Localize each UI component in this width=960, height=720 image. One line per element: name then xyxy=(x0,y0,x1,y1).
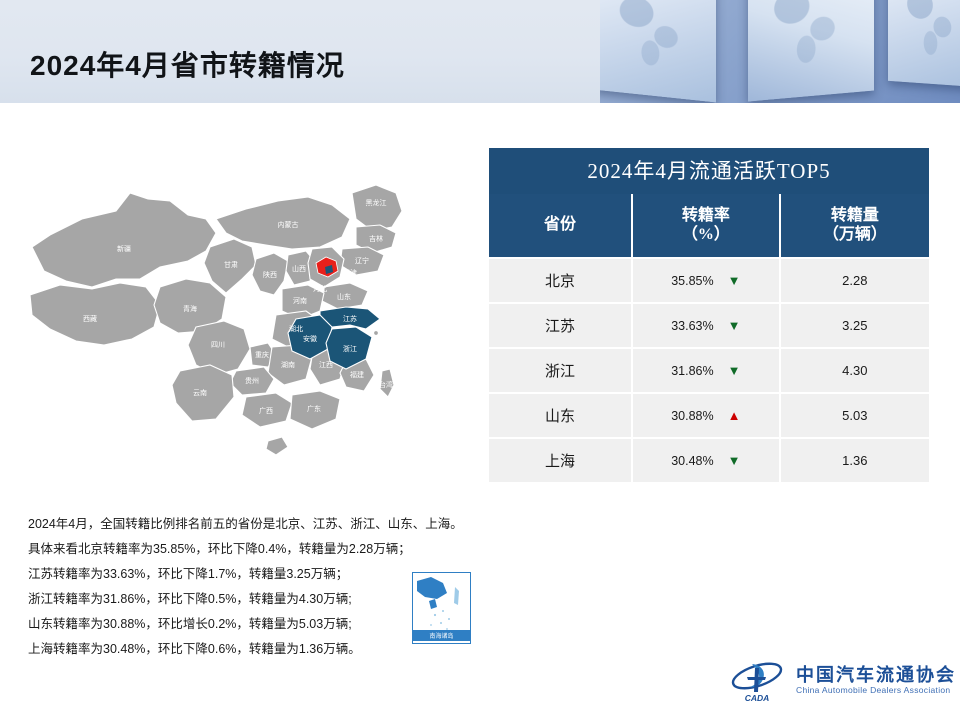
map-label-sichuan: 四川 xyxy=(211,341,225,349)
cell-province: 上海 xyxy=(489,437,631,482)
map-label-tianjin: 天津 xyxy=(343,269,357,277)
column-header-province-line1: 省份 xyxy=(490,216,630,234)
world-map-texture-icon xyxy=(763,0,859,73)
map-label-guizhou: 贵州 xyxy=(245,376,259,385)
column-header-volume: 转籍量 （万辆） xyxy=(779,194,929,257)
trend-up-icon: ▲ xyxy=(728,409,741,422)
cell-rate: 35.85% ▼ xyxy=(631,257,779,302)
trend-down-icon: ▼ xyxy=(728,274,741,287)
map-label-inner-mongolia: 内蒙古 xyxy=(278,220,299,229)
summary-line: 浙江转籍率为31.86%，环比下降0.5%，转籍量为4.30万辆; xyxy=(28,587,648,612)
column-header-rate-line2: （%） xyxy=(634,226,778,244)
map-label-chongqing: 重庆 xyxy=(255,350,269,359)
map-label-shaanxi: 陕西 xyxy=(263,270,277,279)
cada-emblem-icon: CADA xyxy=(730,659,788,703)
table-title: 2024年4月流通活跃TOP5 xyxy=(489,148,929,194)
map-label-henan: 河南 xyxy=(293,296,307,305)
province-hainan xyxy=(266,437,288,455)
province-tibet xyxy=(30,283,160,345)
map-label-liaoning: 辽宁 xyxy=(355,256,369,265)
table-body: 北京 35.85% ▼ 2.28 江苏 33.63% ▼ 3.25 浙江 xyxy=(489,257,929,482)
header-decoration-image xyxy=(600,0,960,103)
china-map: 新疆 西藏 青海 甘肃 内蒙古 黑龙江 吉林 辽宁 天津 河北 山西 陕西 山东… xyxy=(20,175,470,485)
world-map-texture-icon xyxy=(609,0,702,76)
map-label-hebei: 河北 xyxy=(313,285,327,293)
map-label-heilongjiang: 黑龙江 xyxy=(366,198,387,207)
column-header-volume-line1: 转籍量 xyxy=(782,207,928,225)
cell-province: 北京 xyxy=(489,257,631,302)
table-row: 浙江 31.86% ▼ 4.30 xyxy=(489,347,929,392)
china-map-svg: 新疆 西藏 青海 甘肃 内蒙古 黑龙江 吉林 辽宁 天津 河北 山西 陕西 山东… xyxy=(20,175,470,485)
cell-volume: 3.25 xyxy=(779,302,929,347)
map-label-macau: 澳门 xyxy=(299,428,313,437)
summary-line: 江苏转籍率为33.63%，环比下降1.7%，转籍量3.25万辆； xyxy=(28,562,648,587)
map-label-shandong: 山东 xyxy=(337,292,351,301)
cell-volume: 5.03 xyxy=(779,392,929,437)
summary-line: 2024年4月，全国转籍比例排名前五的省份是北京、江苏、浙江、山东、上海。 xyxy=(28,512,648,537)
map-label-gansu: 甘肃 xyxy=(224,260,238,269)
map-label-qinghai: 青海 xyxy=(183,304,197,313)
table-title-row: 2024年4月流通活跃TOP5 xyxy=(489,148,929,194)
map-label-jilin: 吉林 xyxy=(369,234,383,243)
rate-value: 35.85% xyxy=(671,274,713,288)
cell-volume: 1.36 xyxy=(779,437,929,482)
world-map-texture-icon xyxy=(899,0,960,62)
column-header-rate-line1: 转籍率 xyxy=(634,207,778,225)
rate-value: 30.48% xyxy=(671,454,713,468)
table-row: 北京 35.85% ▼ 2.28 xyxy=(489,257,929,302)
province-xinjiang xyxy=(32,193,216,287)
table-row: 上海 30.48% ▼ 1.36 xyxy=(489,437,929,482)
rate-value: 31.86% xyxy=(671,364,713,378)
map-label-hubei: 湖北 xyxy=(289,324,303,333)
map-label-jiangxi: 江西 xyxy=(319,361,333,369)
cell-province: 江苏 xyxy=(489,302,631,347)
table-header-row: 省份 转籍率 （%） 转籍量 （万辆） xyxy=(489,194,929,257)
table-row: 山东 30.88% ▲ 5.03 xyxy=(489,392,929,437)
cada-emblem-svg: CADA xyxy=(730,659,788,703)
map-label-hongkong: 香港 xyxy=(333,420,347,429)
shanghai-dot xyxy=(374,331,378,335)
rate-value: 30.88% xyxy=(671,409,713,423)
trend-down-icon: ▼ xyxy=(728,454,741,467)
summary-text: 2024年4月，全国转籍比例排名前五的省份是北京、江苏、浙江、山东、上海。 具体… xyxy=(28,512,648,662)
summary-line: 山东转籍率为30.88%，环比增长0.2%，转籍量为5.03万辆; xyxy=(28,612,648,637)
cell-volume: 2.28 xyxy=(779,257,929,302)
cell-province: 山东 xyxy=(489,392,631,437)
map-label-fujian: 福建 xyxy=(350,370,364,379)
column-header-rate: 转籍率 （%） xyxy=(631,194,779,257)
map-label-anhui: 安徽 xyxy=(303,334,317,343)
map-label-jiangsu: 江苏 xyxy=(343,314,357,323)
rate-value: 33.63% xyxy=(671,319,713,333)
map-label-hunan: 湖南 xyxy=(281,360,295,369)
cell-volume: 4.30 xyxy=(779,347,929,392)
summary-line: 具体来看北京转籍率为35.85%，环比下降0.4%，转籍量为2.28万辆； xyxy=(28,537,648,562)
map-label-guangdong: 广东 xyxy=(307,404,321,413)
top5-table: 2024年4月流通活跃TOP5 省份 转籍率 （%） 转籍量 （万辆） 北京 3… xyxy=(489,148,929,482)
decorative-cube xyxy=(748,0,874,102)
cell-rate: 31.86% ▼ xyxy=(631,347,779,392)
cell-rate: 30.48% ▼ xyxy=(631,437,779,482)
map-label-xinjiang: 新疆 xyxy=(117,244,131,253)
decorative-cube xyxy=(600,0,716,102)
page-title: 2024年4月省市转籍情况 xyxy=(30,44,345,84)
cada-logo: CADA 中国汽车流通协会 China Automobile Dealers A… xyxy=(730,657,945,705)
map-label-tibet: 西藏 xyxy=(83,314,97,323)
province-heilongjiang xyxy=(352,185,402,231)
logo-text: 中国汽车流通协会 China Automobile Dealers Associ… xyxy=(796,666,956,697)
decorative-cube xyxy=(888,0,960,87)
map-label-guangxi: 广西 xyxy=(259,406,273,415)
map-label-taiwan: 台湾 xyxy=(379,380,393,389)
cell-rate: 30.88% ▲ xyxy=(631,392,779,437)
column-header-volume-line2: （万辆） xyxy=(782,226,928,244)
trend-down-icon: ▼ xyxy=(728,319,741,332)
logo-name-en: China Automobile Dealers Association xyxy=(796,685,956,696)
column-header-province: 省份 xyxy=(489,194,631,257)
map-label-zhejiang: 浙江 xyxy=(343,344,357,353)
map-label-shanxi: 山西 xyxy=(292,264,306,273)
svg-text:CADA: CADA xyxy=(745,693,770,703)
summary-line: 上海转籍率为30.48%，环比下降0.6%，转籍量为1.36万辆。 xyxy=(28,637,648,662)
cell-province: 浙江 xyxy=(489,347,631,392)
trend-down-icon: ▼ xyxy=(728,364,741,377)
map-label-shanghai: 上海 xyxy=(383,328,397,337)
page-header: 2024年4月省市转籍情况 xyxy=(0,0,960,103)
logo-name-cn: 中国汽车流通协会 xyxy=(796,666,956,686)
table-row: 江苏 33.63% ▼ 3.25 xyxy=(489,302,929,347)
map-label-yunnan: 云南 xyxy=(193,388,207,397)
cell-rate: 33.63% ▼ xyxy=(631,302,779,347)
